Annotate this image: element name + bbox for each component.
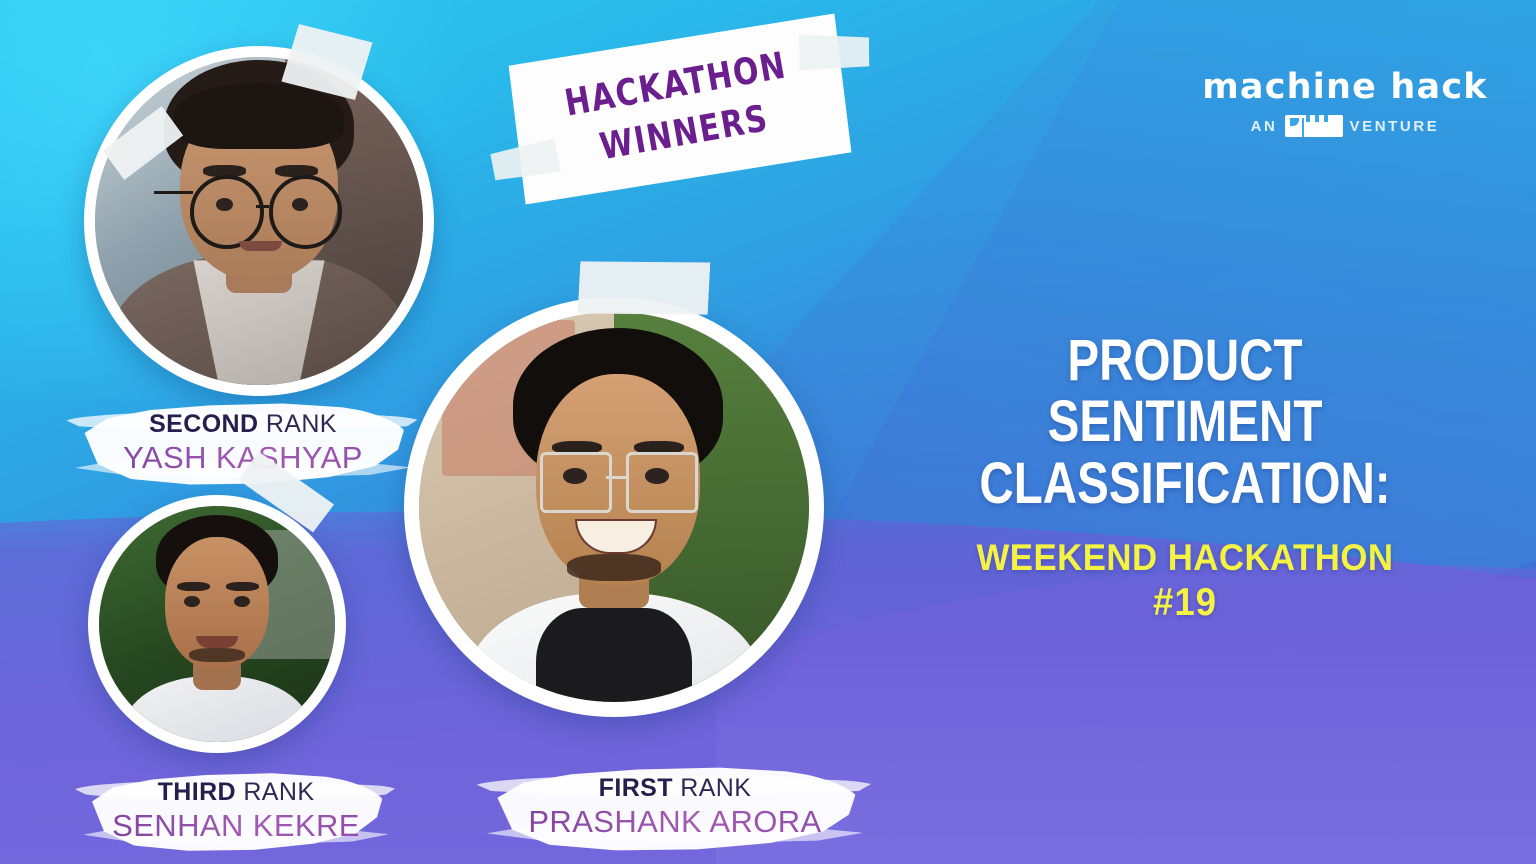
- brand-tagline: AN VENTURE: [1200, 115, 1490, 137]
- winner-photo-second: [84, 46, 434, 396]
- winner-rank-line: SECOND RANK: [78, 410, 408, 440]
- winner-rank-word: SECOND: [149, 410, 258, 438]
- winner-rank-suffix: RANK: [243, 778, 314, 806]
- winner-label-first: FIRST RANK PRASHANK ARORA: [490, 762, 860, 856]
- winner-rank-word: THIRD: [158, 778, 236, 806]
- winner-photo-third: [88, 495, 346, 753]
- headline-line-2: CLASSIFICATION:: [947, 453, 1423, 514]
- winner-label-second-text: SECOND RANK YASH KASHYAP: [78, 398, 408, 475]
- winner-rank-suffix: RANK: [680, 774, 751, 802]
- note-text: HACKATHON WINNERS: [504, 6, 855, 213]
- winner-rank-suffix: RANK: [266, 410, 337, 438]
- winners-poster: Machine Hack AN VENTURE HACKATHON WINNER…: [0, 0, 1536, 864]
- event-headline: PRODUCT SENTIMENT CLASSIFICATION: WEEKEN…: [895, 330, 1475, 626]
- winner-photo-first-image: [419, 312, 809, 702]
- winner-label-third: THIRD RANK SENHAN KEKRE: [86, 768, 386, 856]
- brand-wordmark: Machine Hack: [1200, 70, 1490, 105]
- headline-line-1: PRODUCT SENTIMENT: [947, 330, 1423, 453]
- brand-tagline-suffix: VENTURE: [1350, 118, 1440, 135]
- brand-wordmark-part1: Machine: [1202, 67, 1377, 107]
- subtitle-line-1: WEEKEND HACKATHON: [977, 537, 1394, 578]
- tape-strip-top-icon: [578, 256, 711, 321]
- winner-label-first-text: FIRST RANK PRASHANK ARORA: [490, 762, 860, 839]
- hackathon-winners-note: HACKATHON WINNERS: [507, 13, 853, 204]
- winner-photo-third-image: [99, 506, 335, 742]
- winner-label-third-text: THIRD RANK SENHAN KEKRE: [86, 768, 386, 843]
- subtitle-line-2: #19: [912, 580, 1457, 626]
- machinehack-logo: Machine Hack AN VENTURE: [1200, 70, 1490, 137]
- brand-wordmark-part2: Hack: [1390, 67, 1487, 107]
- winner-name: YASH KASHYAP: [78, 440, 408, 476]
- winner-name: PRASHANK ARORA: [490, 804, 860, 840]
- winner-rank-line: FIRST RANK: [490, 774, 860, 804]
- aim-logo-icon: [1285, 115, 1343, 137]
- winner-photo-first: [404, 297, 824, 717]
- winner-rank-line: THIRD RANK: [86, 778, 386, 808]
- brand-tagline-prefix: AN: [1251, 118, 1278, 135]
- winner-name: SENHAN KEKRE: [86, 808, 386, 844]
- headline-subtitle: WEEKEND HACKATHON #19: [912, 536, 1457, 626]
- winner-rank-word: FIRST: [599, 774, 673, 802]
- winner-photo-second-image: [95, 57, 423, 385]
